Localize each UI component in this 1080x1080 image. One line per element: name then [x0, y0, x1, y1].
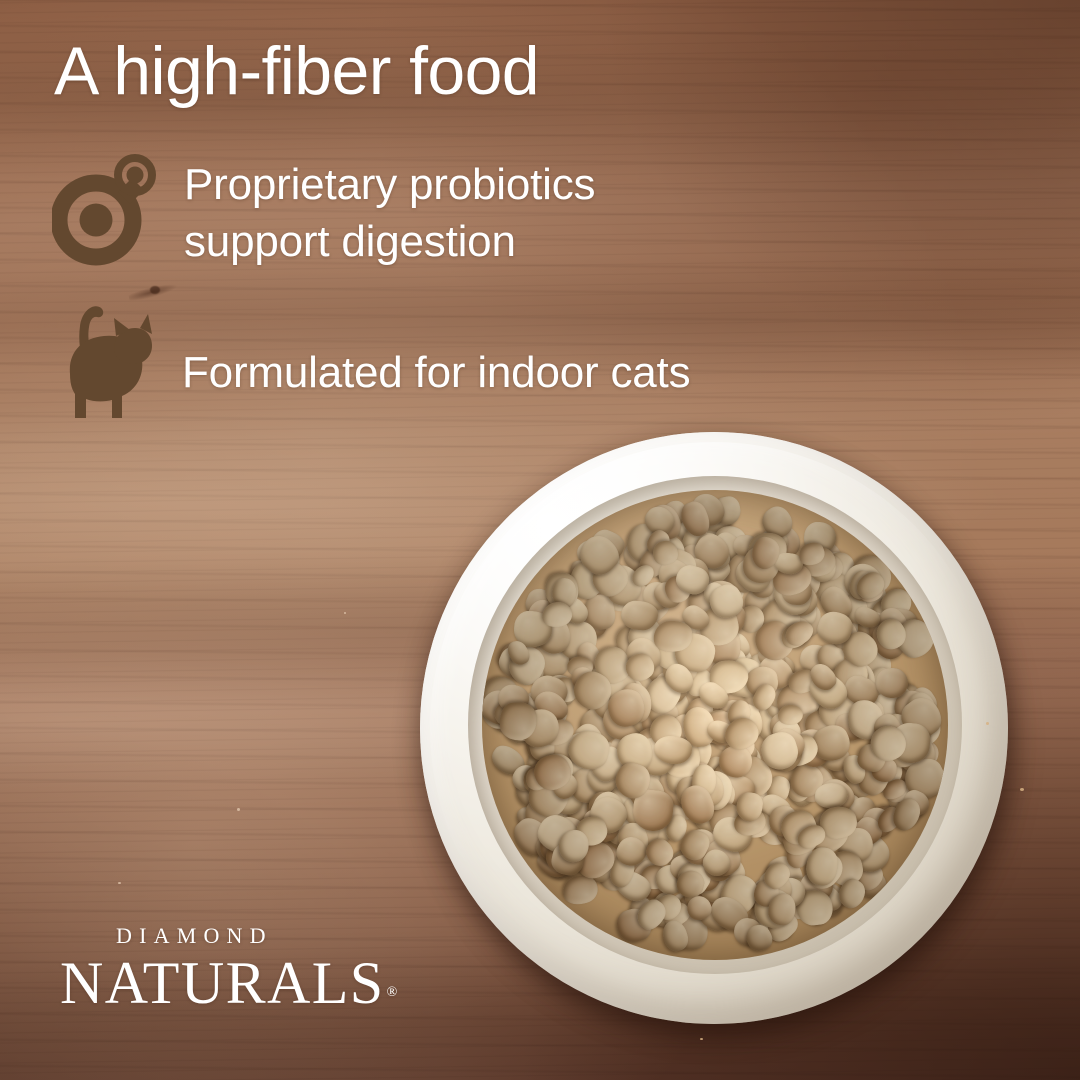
product-feature-graphic: A high-fiber food Proprietary probiotics… — [0, 0, 1080, 1080]
kibble-fill — [482, 490, 948, 960]
kibble-crumb — [700, 1038, 703, 1040]
brand-logo: DIAMOND NATURALS® — [60, 925, 395, 1014]
feature-label-indoor-cats: Formulated for indoor cats — [182, 344, 690, 401]
brand-logo-naturals-text: NATURALS — [60, 950, 385, 1016]
feature-item-probiotics: Proprietary probiotics support digestion — [52, 150, 595, 275]
probiotic-cells-icon — [52, 150, 160, 275]
cat-silhouette-icon — [52, 296, 156, 427]
registered-trademark-symbol: ® — [387, 985, 398, 1000]
page-title: A high-fiber food — [54, 36, 539, 107]
kibble-piece — [875, 668, 908, 699]
kibble-crumb — [986, 722, 989, 725]
feature-label-probiotics: Proprietary probiotics support digestion — [184, 156, 595, 270]
kibble-crumb — [1020, 788, 1024, 791]
brand-logo-naturals: NATURALS® — [60, 953, 395, 1014]
cat-food-bowl — [420, 432, 1008, 1024]
feature-item-indoor-cats: Formulated for indoor cats — [52, 296, 690, 427]
brand-logo-diamond: DIAMOND — [116, 925, 395, 947]
